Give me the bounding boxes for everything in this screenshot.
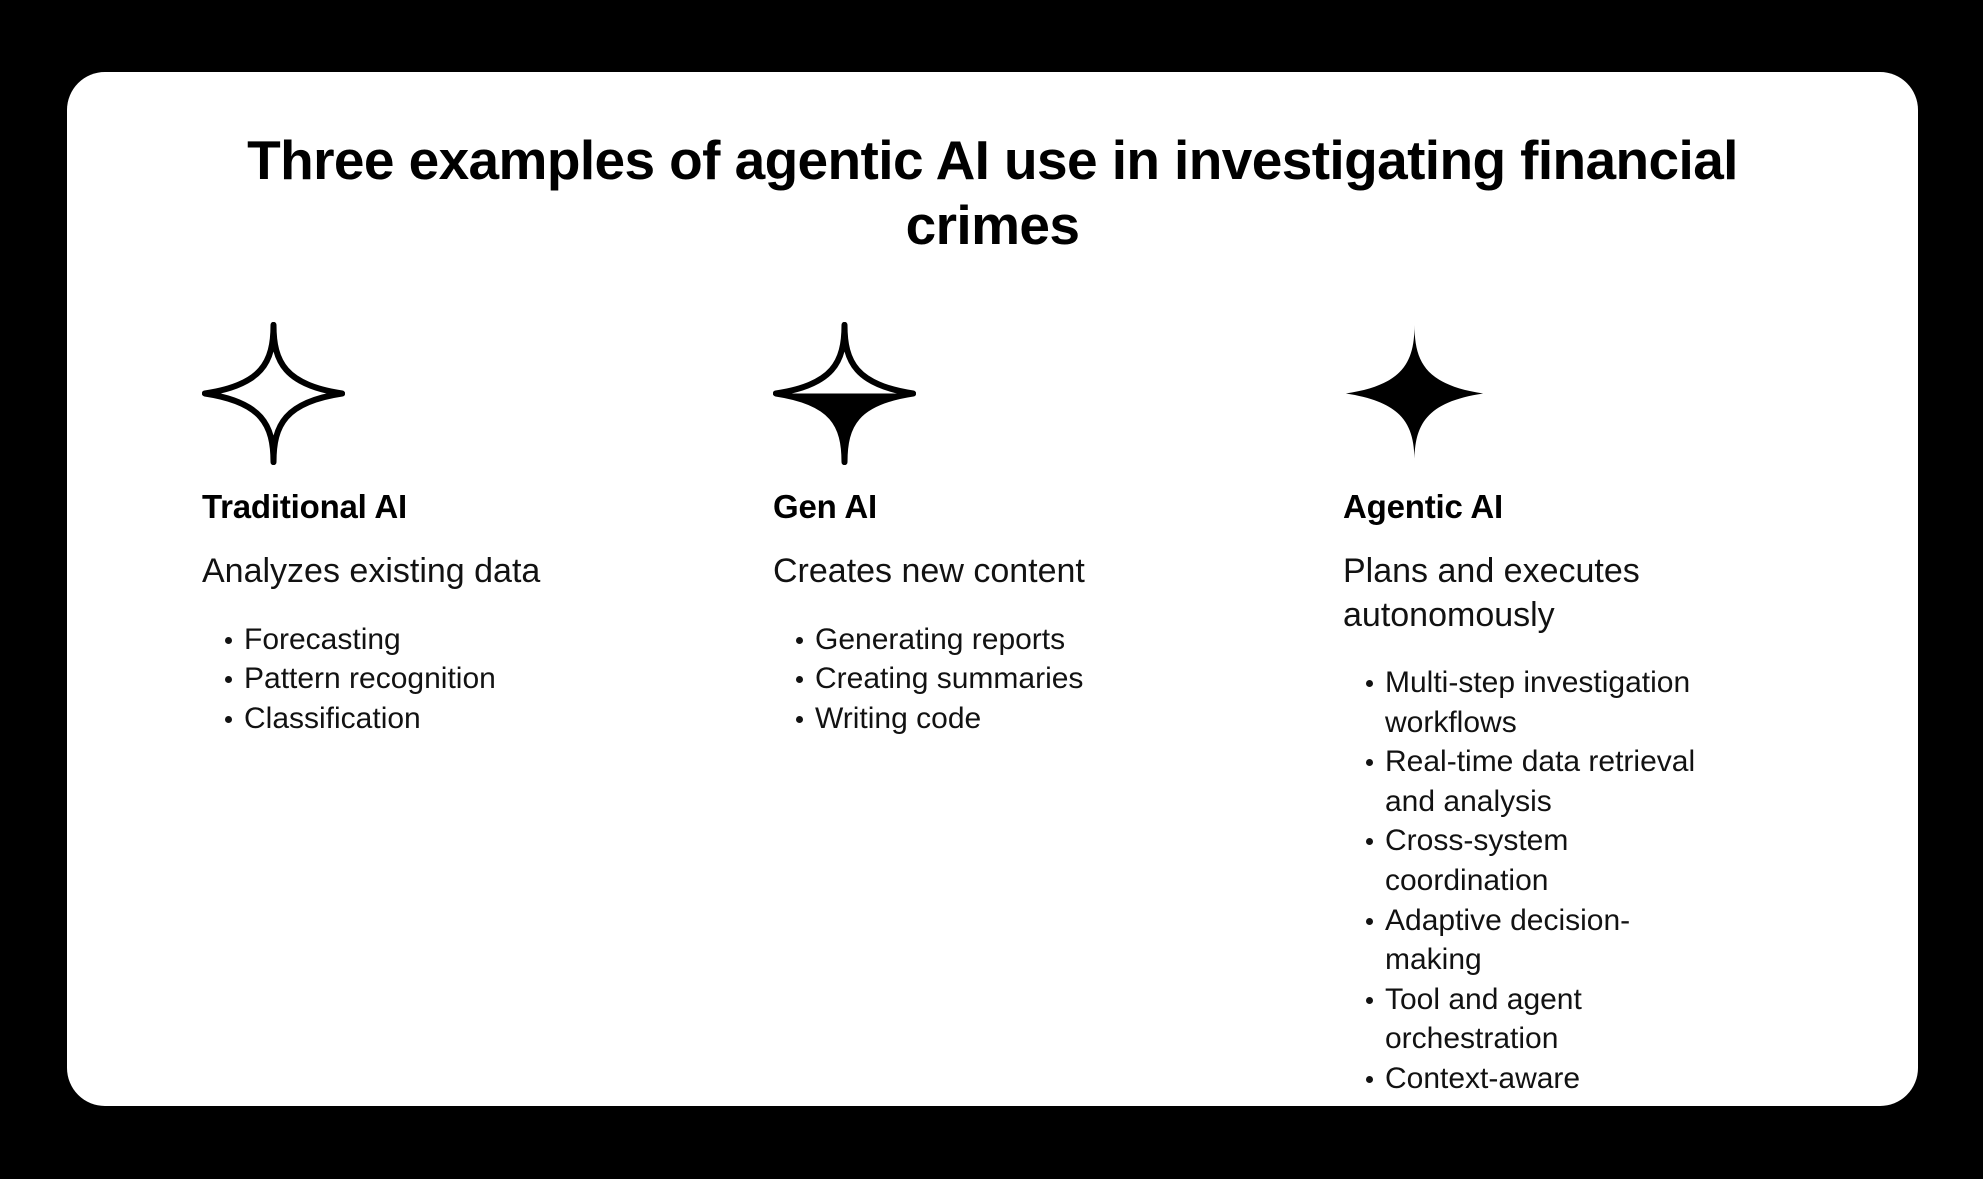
four-point-star-half-filled-icon — [773, 322, 1273, 487]
list-item: Generating reports — [773, 620, 1255, 660]
column-heading: Agentic AI — [1343, 487, 1843, 529]
column-description: Creates new content — [773, 550, 1243, 594]
list-item: Context-aware reasoning — [1343, 1059, 1715, 1106]
four-point-star-filled-icon — [1343, 322, 1843, 487]
list-item: Creating summaries — [773, 659, 1255, 699]
column-agentic-ai: Agentic AI Plans and executes autonomous… — [1343, 322, 1843, 1106]
list-item: Cross-system coordination — [1343, 821, 1715, 900]
column-bullet-list: Multi-step investigation workflows Real-… — [1343, 663, 1843, 1106]
column-bullet-list: Forecasting Pattern recognition Classifi… — [202, 620, 702, 739]
column-heading: Traditional AI — [202, 487, 702, 529]
four-point-star-outline-icon — [202, 322, 702, 487]
content-card: Three examples of agentic AI use in inve… — [67, 72, 1918, 1106]
column-gen-ai: Gen AI Creates new content Generating re… — [773, 322, 1273, 738]
column-bullet-list: Generating reports Creating summaries Wr… — [773, 620, 1273, 739]
list-item: Tool and agent orchestration — [1343, 980, 1715, 1059]
column-description: Plans and executes autonomously — [1343, 550, 1643, 637]
list-item: Pattern recognition — [202, 659, 684, 699]
columns-container: Traditional AI Analyzes existing data Fo… — [202, 322, 1918, 1062]
list-item: Real-time data retrieval and analysis — [1343, 742, 1715, 821]
list-item: Multi-step investigation workflows — [1343, 663, 1715, 742]
column-traditional-ai: Traditional AI Analyzes existing data Fo… — [202, 322, 702, 738]
list-item: Forecasting — [202, 620, 684, 660]
page-title: Three examples of agentic AI use in inve… — [217, 128, 1768, 258]
column-description: Analyzes existing data — [202, 550, 672, 594]
list-item: Classification — [202, 699, 684, 739]
column-heading: Gen AI — [773, 487, 1273, 529]
list-item: Writing code — [773, 699, 1255, 739]
slide-root: Three examples of agentic AI use in inve… — [0, 0, 1983, 1179]
list-item: Adaptive decision-making — [1343, 901, 1715, 980]
